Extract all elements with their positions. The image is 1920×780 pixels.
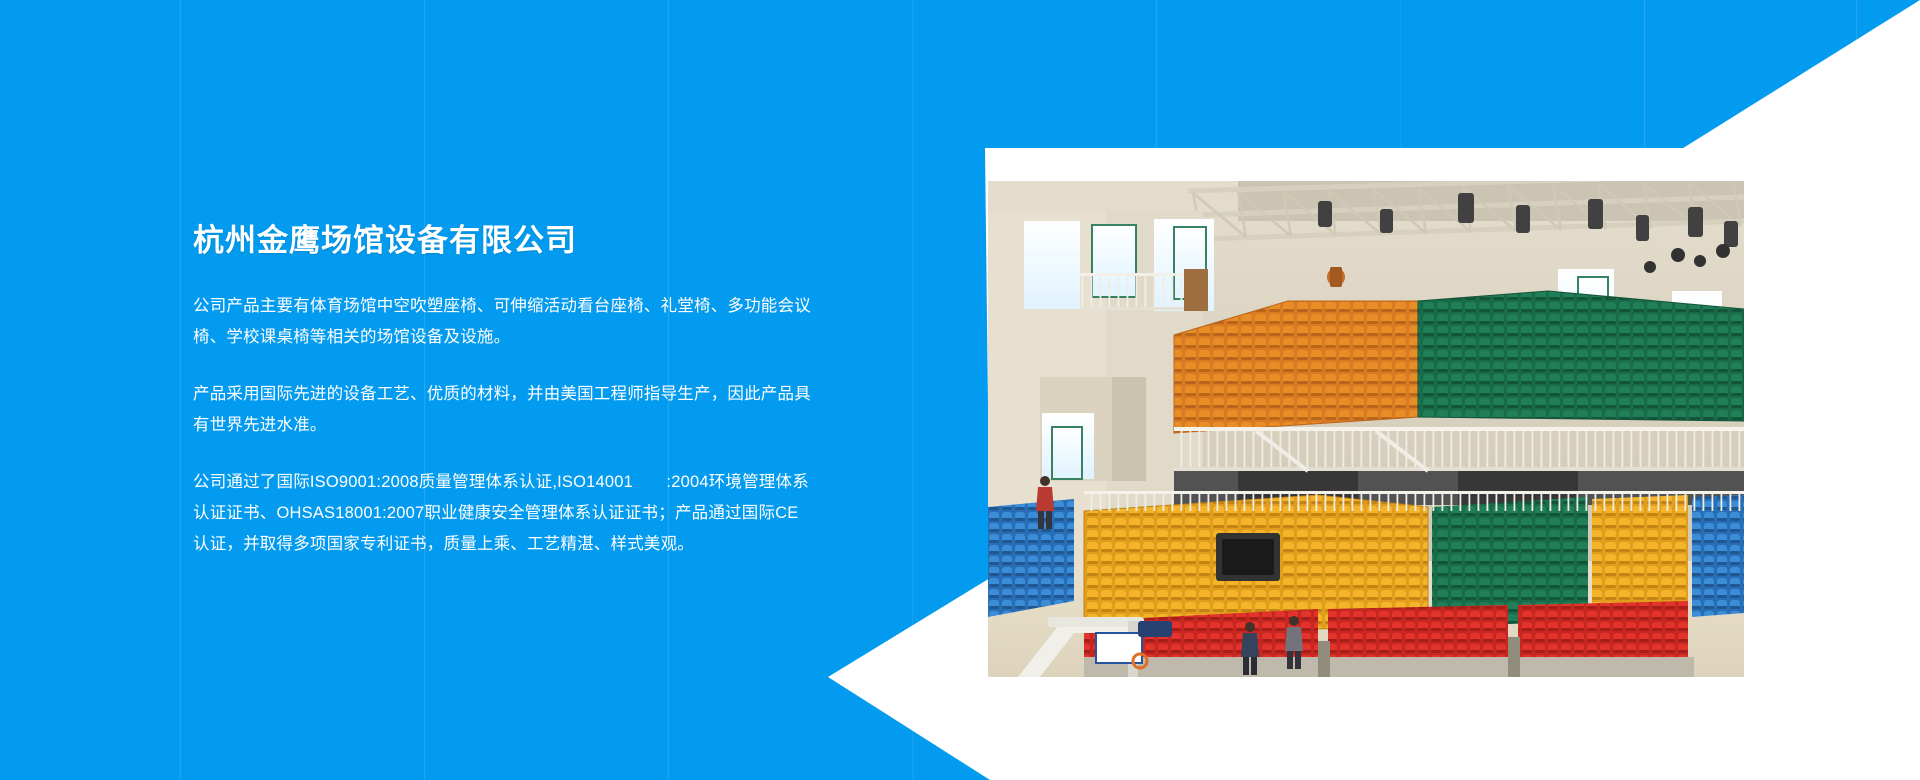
page-title: 杭州金鹰场馆设备有限公司 (193, 222, 813, 261)
gymnasium-photo-illustration (988, 181, 1744, 677)
banner-stage: 杭州金鹰场馆设备有限公司 公司产品主要有体育场馆中空吹塑座椅、可伸缩活动看台座椅… (0, 0, 1920, 780)
intro-paragraph-quality: 产品采用国际先进的设备工艺、优质的材料，并由美国工程师指导生产，因此产品具有世界… (193, 379, 813, 441)
gymnasium-photo (988, 181, 1744, 677)
banner-copy: 杭州金鹰场馆设备有限公司 公司产品主要有体育场馆中空吹塑座椅、可伸缩活动看台座椅… (193, 222, 813, 560)
intro-paragraph-certifications: 公司通过了国际ISO9001:2008质量管理体系认证,ISO14001 :20… (193, 467, 813, 560)
intro-paragraph-products: 公司产品主要有体育场馆中空吹塑座椅、可伸缩活动看台座椅、礼堂椅、多功能会议椅、学… (193, 291, 813, 353)
